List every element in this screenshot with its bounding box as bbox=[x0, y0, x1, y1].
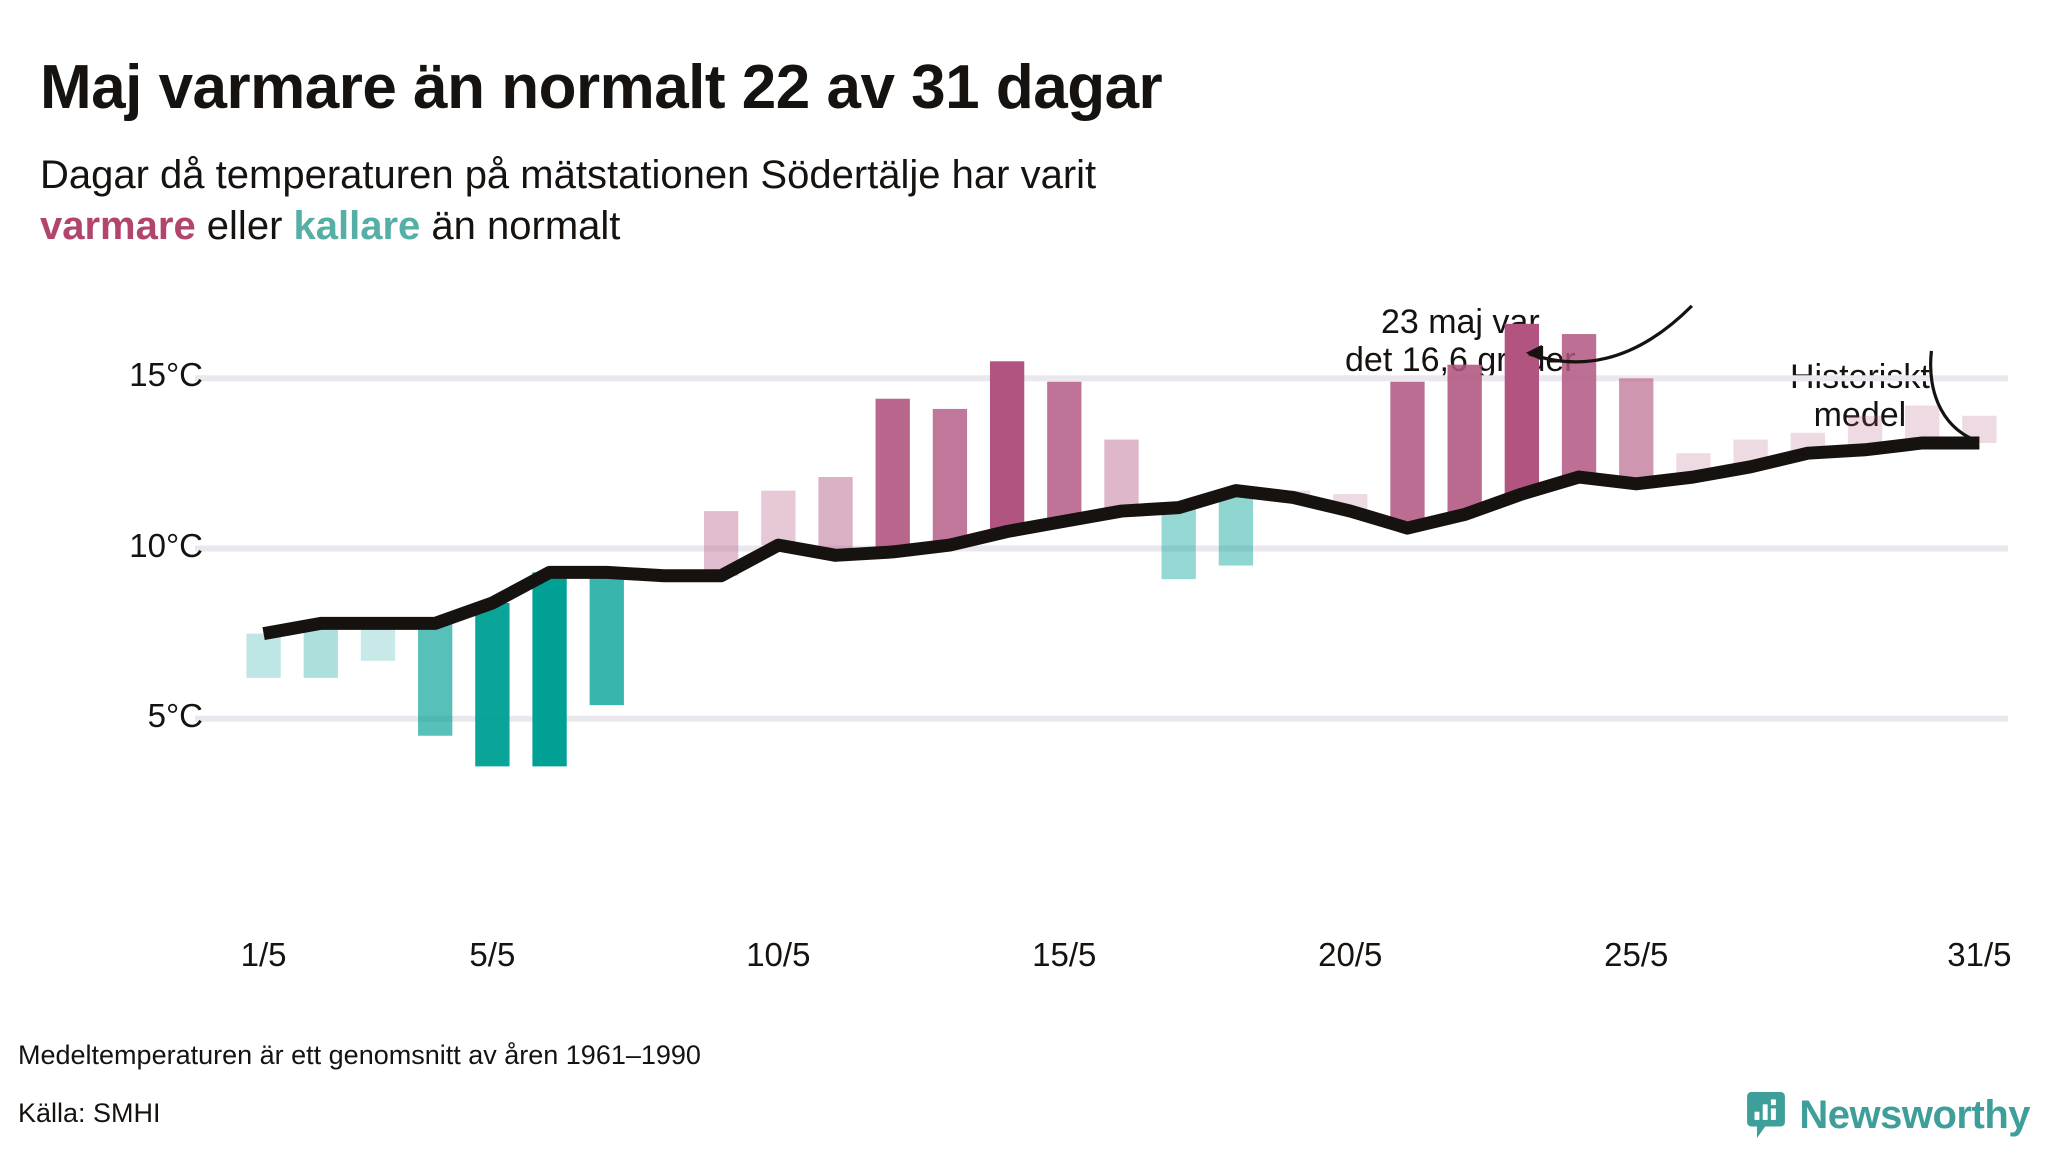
subtitle-tail-word: än normalt bbox=[420, 204, 620, 248]
bar-day-24 bbox=[1562, 334, 1596, 477]
bar-day-11 bbox=[818, 477, 852, 555]
page-title: Maj varmare än normalt 22 av 31 dagar bbox=[40, 52, 1162, 123]
x-axis-tick-10/5: 10/5 bbox=[708, 936, 848, 974]
chart-source: Källa: SMHI bbox=[18, 1098, 161, 1129]
subtitle-mid-word: eller bbox=[196, 204, 294, 248]
temperature-chart bbox=[0, 300, 2048, 940]
y-axis-tick-5: 5°C bbox=[28, 697, 203, 735]
bar-day-22 bbox=[1448, 365, 1482, 515]
x-axis-tick-1/5: 1/5 bbox=[194, 936, 334, 974]
y-axis-tick-15: 15°C bbox=[28, 356, 203, 394]
bar-chart-speech-bubble-icon bbox=[1743, 1092, 1789, 1138]
subtitle-warm-word: varmare bbox=[40, 204, 196, 248]
x-axis-tick-25/5: 25/5 bbox=[1566, 936, 1706, 974]
bar-day-13 bbox=[933, 409, 967, 545]
bar-day-17 bbox=[1162, 508, 1196, 579]
subtitle-line-1: Dagar då temperaturen på mätstationen Sö… bbox=[40, 150, 1096, 201]
x-axis-tick-20/5: 20/5 bbox=[1280, 936, 1420, 974]
chart-footnote: Medeltemperaturen är ett genomsnitt av å… bbox=[18, 1040, 701, 1071]
bar-day-16 bbox=[1104, 440, 1138, 511]
bar-day-6 bbox=[532, 572, 566, 766]
y-axis-tick-10: 10°C bbox=[28, 527, 203, 565]
bar-day-7 bbox=[590, 572, 624, 705]
chart-subtitle: Dagar då temperaturen på mätstationen Sö… bbox=[40, 150, 1096, 252]
bar-day-5 bbox=[475, 603, 509, 766]
bar-day-14 bbox=[990, 361, 1024, 531]
bar-day-15 bbox=[1047, 382, 1081, 522]
bar-day-25 bbox=[1619, 378, 1653, 484]
subtitle-line-2: varmare eller kallare än normalt bbox=[40, 201, 1096, 252]
annotation-leader-max bbox=[1529, 306, 1692, 362]
bar-day-18 bbox=[1219, 491, 1253, 566]
x-axis-tick-31/5: 31/5 bbox=[1909, 936, 2048, 974]
bar-day-4 bbox=[418, 623, 452, 735]
bar-day-12 bbox=[876, 399, 910, 552]
bar-day-1 bbox=[246, 634, 280, 678]
newsworthy-logo[interactable]: Newsworthy bbox=[1743, 1092, 2030, 1138]
x-axis-tick-15/5: 15/5 bbox=[994, 936, 1134, 974]
newsworthy-wordmark: Newsworthy bbox=[1799, 1093, 2030, 1138]
bar-day-10 bbox=[761, 491, 795, 545]
bar-day-21 bbox=[1390, 382, 1424, 528]
x-axis-tick-5/5: 5/5 bbox=[422, 936, 562, 974]
subtitle-cold-word: kallare bbox=[294, 204, 421, 248]
